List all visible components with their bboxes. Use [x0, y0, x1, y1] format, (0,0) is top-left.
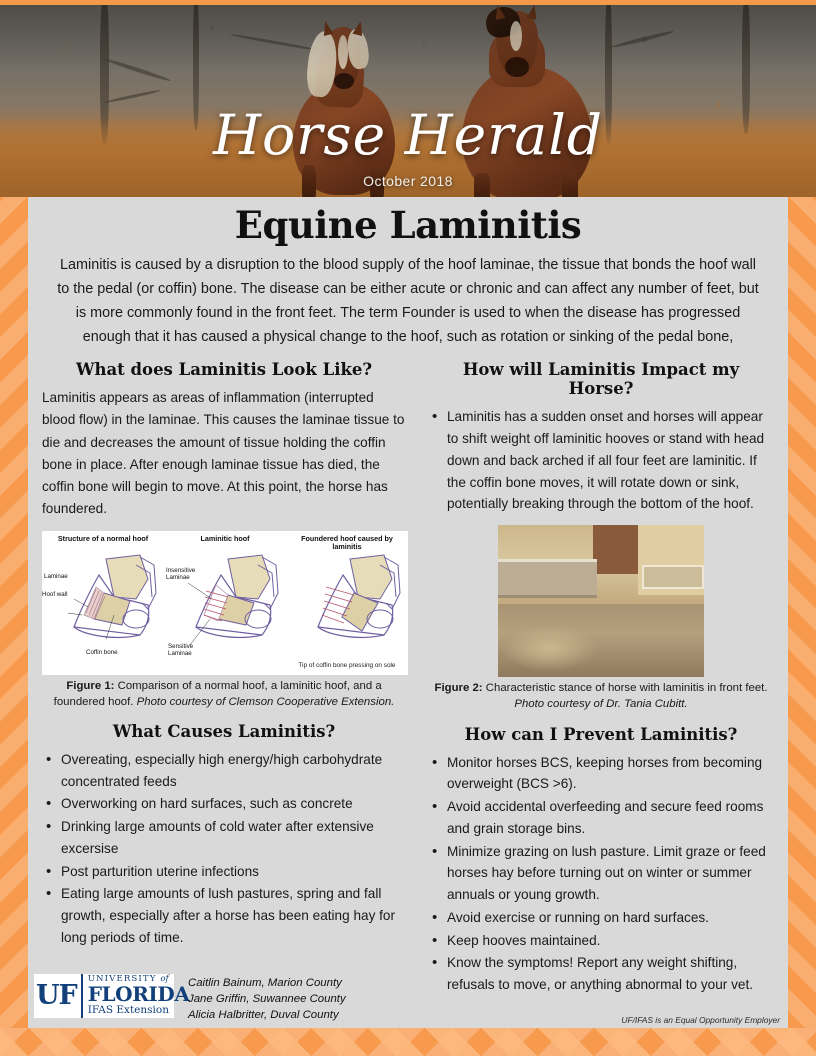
- list-item: Avoid exercise or running on hard surfac…: [428, 907, 774, 929]
- figure-2-barn-wall: [593, 525, 638, 574]
- hoof-label-sensitive-laminae: Sensitive Laminae: [168, 643, 212, 658]
- hoof-label-hoof-wall: Hoof wall: [42, 591, 67, 598]
- masthead-date: October 2018: [0, 173, 816, 189]
- left-decorative-border: [0, 197, 28, 1056]
- author-line: Jane Griffin, Suwannee County: [188, 992, 346, 1008]
- banner-photo-horses: [0, 5, 816, 197]
- two-column-layout: What does Laminitis Look Like? Laminitis…: [42, 360, 774, 996]
- list-item: Post parturition uterine infections: [42, 861, 406, 883]
- bottom-border-chevrons-overlay: [0, 1028, 816, 1056]
- hoof-label-coffin-bone: Coffin bone: [86, 649, 118, 656]
- impact-bullet-list: Laminitis has a sudden onset and horses …: [428, 406, 774, 515]
- figure-2-caption: Figure 2: Characteristic stance of horse…: [428, 680, 774, 712]
- right-border-stripes: [788, 197, 816, 1056]
- list-item: Keep hooves maintained.: [428, 930, 774, 952]
- list-item: Eating large amounts of lush pastures, s…: [42, 883, 406, 948]
- hoof-panel-title: Structure of a normal hoof: [42, 535, 164, 544]
- uf-ifas-extension: IFAS Extension: [88, 1004, 190, 1016]
- figure-2-label: Figure 2:: [435, 682, 483, 694]
- section-heading-prevent: How can I Prevent Laminitis?: [428, 725, 774, 744]
- right-decorative-border: [788, 197, 816, 1056]
- hoof-panel-title: Foundered hoof caused by laminitis: [286, 535, 408, 552]
- hoof-normal-svg: [44, 553, 162, 653]
- intro-paragraph: Laminitis is caused by a disruption to t…: [42, 254, 774, 350]
- banner-overlay-shade: [0, 5, 816, 197]
- section-heading-causes: What Causes Laminitis?: [42, 722, 406, 741]
- figure-2-straw: [502, 626, 597, 672]
- page-footer: UF UNIVERSITY of FLORIDA IFAS Extension …: [28, 970, 788, 1028]
- list-item: Avoid accidental overfeeding and secure …: [428, 796, 774, 840]
- header-banner: Horse Herald October 2018: [0, 5, 816, 197]
- list-item: Monitor horses BCS, keeping horses from …: [428, 752, 774, 796]
- right-column: How will Laminitis Impact my Horse? Lami…: [428, 360, 774, 996]
- bottom-decorative-border: [0, 1028, 816, 1056]
- left-border-stripes: [0, 197, 28, 1056]
- list-item: Minimize grazing on lush pasture. Limit …: [428, 841, 774, 906]
- list-item: Drinking large amounts of cold water aft…: [42, 816, 406, 860]
- list-item: Overeating, especially high energy/high …: [42, 749, 406, 793]
- page-title: Equine Laminitis: [42, 206, 774, 245]
- figure-1-credit: Photo courtesy of Clemson Cooperative Ex…: [137, 696, 395, 708]
- figure-2-fence-rail: [498, 559, 597, 599]
- content-sheet: Equine Laminitis Laminitis is caused by …: [28, 197, 788, 1028]
- figure-2-credit: Photo courtesy of Dr. Tania Cubitt.: [514, 698, 687, 710]
- author-line: Alicia Halbritter, Duval County: [188, 1008, 346, 1024]
- figure-2-fence-rail: [642, 565, 704, 589]
- top-accent-strip: [0, 0, 816, 5]
- figure-1-label: Figure 1:: [66, 680, 114, 692]
- left-column: What does Laminitis Look Like? Laminitis…: [42, 360, 406, 996]
- section-heading-impact: How will Laminitis Impact my Horse?: [428, 360, 774, 398]
- equal-opportunity-statement: UF/IFAS is an Equal Opportunity Employer: [621, 1015, 780, 1025]
- newsletter-page: Horse Herald October 2018 Equine Laminit…: [0, 0, 816, 1056]
- causes-bullet-list: Overeating, especially high energy/high …: [42, 749, 406, 949]
- hoof-panel-normal: Structure of a normal hoof: [42, 531, 164, 675]
- author-line: Caitlin Bainum, Marion County: [188, 976, 346, 992]
- hoof-panel-title: Laminitic hoof: [164, 535, 286, 544]
- hoof-panel-foundered: Foundered hoof caused by laminitis: [286, 531, 408, 675]
- list-item: Laminitis has a sudden onset and horses …: [428, 406, 774, 515]
- figure-2-image: [498, 525, 704, 677]
- figure-2-caption-text: Characteristic stance of horse with lami…: [486, 682, 768, 694]
- uf-logo: UF UNIVERSITY of FLORIDA IFAS Extension: [34, 974, 174, 1018]
- figure-1-image: Structure of a normal hoof: [42, 531, 408, 675]
- hoof-diagram: Structure of a normal hoof: [42, 531, 408, 675]
- masthead-title: Horse Herald: [0, 108, 816, 163]
- author-credits: Caitlin Bainum, Marion County Jane Griff…: [188, 974, 346, 1024]
- uf-logo-text: UNIVERSITY of FLORIDA IFAS Extension: [81, 974, 190, 1018]
- hoof-note-foundered: Tip of coffin bone pressing on sole: [286, 662, 408, 670]
- section-body-look-like: Laminitis appears as areas of inflammati…: [42, 387, 406, 519]
- uf-monogram: UF: [34, 974, 81, 1018]
- hoof-panel-laminitic: Laminitic hoof: [164, 531, 286, 675]
- hoof-foundered-svg: [288, 553, 406, 653]
- uf-florida-word: FLORIDA: [88, 984, 190, 1004]
- figure-1-caption: Figure 1: Comparison of a normal hoof, a…: [42, 678, 406, 710]
- section-heading-look-like: What does Laminitis Look Like?: [42, 360, 406, 379]
- prevent-bullet-list: Monitor horses BCS, keeping horses from …: [428, 752, 774, 996]
- hoof-label-laminae: Laminae: [44, 573, 68, 580]
- hoof-label-insensitive-laminae: Insensitive Laminae: [166, 567, 210, 582]
- list-item: Overworking on hard surfaces, such as co…: [42, 793, 406, 815]
